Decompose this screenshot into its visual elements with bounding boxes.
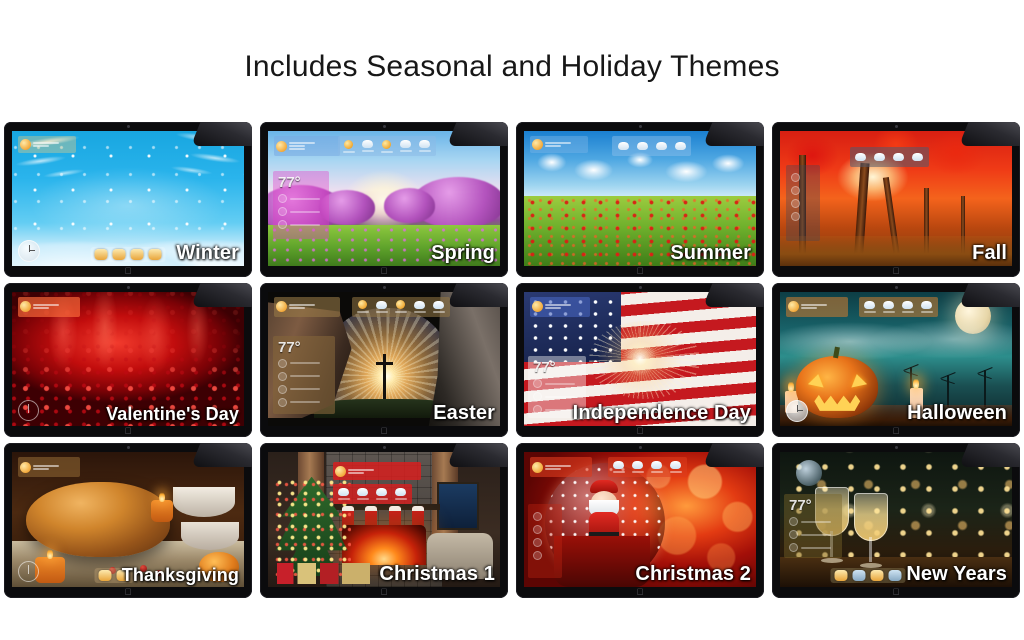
forecast-cell	[379, 138, 395, 154]
forecast-cell	[853, 149, 869, 165]
cloud-icon	[278, 359, 287, 368]
weather-badge[interactable]	[274, 297, 340, 317]
sun-icon	[20, 301, 31, 312]
cloud-icon	[278, 220, 287, 229]
device-logo-icon: 	[635, 587, 645, 597]
pumpkin-eye	[849, 372, 867, 387]
cloud-icon	[278, 385, 287, 394]
sun-icon	[344, 140, 353, 149]
theme-label: Christmas 2	[635, 563, 751, 586]
theme-label: Halloween	[907, 402, 1007, 425]
theme-tile-winter[interactable]: 	[0, 120, 256, 281]
forecast-row	[278, 398, 331, 407]
theme-tile-valentines-day[interactable]:  Valentine's Day	[0, 281, 256, 442]
monitor-frame: 	[4, 122, 252, 277]
dock-icon[interactable]	[835, 570, 848, 581]
camera-icon	[895, 286, 898, 289]
theme-grid: 	[0, 120, 1024, 602]
pumpkin-eye	[807, 372, 825, 387]
theme-tile-christmas-1[interactable]: 	[256, 441, 512, 602]
sun-icon	[20, 139, 31, 150]
forecast-cell	[919, 299, 935, 315]
cloud-icon	[376, 488, 387, 496]
monitor-frame: 	[772, 122, 1020, 277]
cloud-icon	[651, 461, 662, 469]
forecast-cell	[872, 149, 888, 165]
sun-icon	[396, 300, 405, 309]
forecast-cell	[862, 299, 878, 315]
camera-icon	[127, 446, 130, 449]
theme-label: Spring	[431, 242, 495, 265]
weather-badge[interactable]	[333, 462, 421, 480]
jack-o-lantern-icon	[796, 356, 878, 418]
sun-icon	[358, 300, 367, 309]
screen: Halloween	[780, 292, 1012, 427]
cloud-icon	[533, 379, 542, 388]
forecast-row	[791, 199, 816, 208]
cloud-icon	[921, 301, 932, 309]
sun-icon	[276, 301, 287, 312]
screen: Summer	[524, 131, 756, 266]
cloud-icon	[791, 173, 800, 182]
theme-tile-halloween[interactable]: 	[768, 281, 1024, 442]
cloud-icon	[278, 398, 287, 407]
screen: Fall	[780, 131, 1012, 266]
device-logo-icon: 	[379, 587, 389, 597]
forecast-cell	[891, 149, 907, 165]
device-logo-icon: 	[123, 587, 133, 597]
screen: 77° New Years	[780, 452, 1012, 587]
forecast-strip[interactable]	[859, 297, 938, 317]
blossom-tree-midright	[384, 188, 435, 223]
cloud-icon	[675, 142, 686, 150]
cloud-icon	[278, 207, 287, 216]
forecast-row	[533, 379, 582, 388]
theme-label: Easter	[433, 402, 495, 425]
monitor-frame:  77°	[772, 443, 1020, 598]
forecast-cell	[910, 149, 926, 165]
dock[interactable]	[91, 247, 166, 262]
cloud-icon	[864, 301, 875, 309]
forecast-cell	[615, 138, 631, 154]
sun-icon	[532, 139, 543, 150]
cloud-icon	[533, 512, 542, 521]
weather-badge-text	[801, 304, 827, 309]
power-icon[interactable]	[18, 561, 39, 582]
weather-badge[interactable]	[530, 136, 588, 153]
dock[interactable]	[831, 568, 906, 583]
forecast-row	[791, 173, 816, 182]
theme-label: Fall	[972, 242, 1007, 265]
sun-icon	[532, 462, 543, 473]
weather-badge-text	[545, 142, 571, 147]
cloud-icon	[893, 153, 904, 161]
cloud-icon	[278, 372, 287, 381]
screen: Valentine's Day	[12, 292, 244, 427]
screen: 77° Easter	[268, 292, 500, 427]
forecast-cell	[431, 299, 447, 315]
screen: 77° Spring	[268, 131, 500, 266]
monitor-frame:  Valentine's Day	[4, 283, 252, 438]
theme-tile-fall[interactable]: 	[768, 120, 1024, 281]
monitor-frame: 	[4, 443, 252, 598]
screen: Christmas 1	[268, 452, 500, 587]
camera-icon	[639, 286, 642, 289]
pumpkin-mouth	[814, 395, 860, 411]
cloud-icon	[656, 142, 667, 150]
forecast-cell	[649, 459, 665, 475]
cloud-icon	[637, 142, 648, 150]
fireplace-fire	[342, 525, 426, 565]
dock-icon[interactable]	[853, 570, 866, 581]
forecast-cell	[672, 138, 688, 154]
stuffing-bowl	[173, 487, 235, 517]
weather-badge-text	[348, 469, 374, 474]
forecast-row	[789, 543, 838, 552]
device-logo-icon: 	[635, 426, 645, 436]
cloud-icon	[278, 194, 287, 203]
cloud-icon	[789, 517, 798, 526]
weather-badge[interactable]	[786, 297, 848, 317]
theme-label: New Years	[906, 563, 1007, 586]
screen: Christmas 2	[524, 452, 756, 587]
device-logo-icon: 	[891, 266, 901, 276]
camera-icon	[127, 125, 130, 128]
cloud-icon	[618, 142, 629, 150]
sun-icon	[788, 301, 799, 312]
weather-temperature: 77°	[278, 175, 325, 190]
forecast-cell	[611, 459, 627, 475]
cloud-icon	[395, 488, 406, 496]
cloud-icon	[613, 461, 624, 469]
forecast-cell	[336, 486, 352, 502]
cloud-icon	[419, 140, 430, 148]
theme-tile-christmas-2[interactable]: 	[512, 441, 768, 602]
forecast-row	[533, 512, 558, 521]
forecast-strip[interactable]	[338, 136, 436, 156]
forecast-cell	[630, 459, 646, 475]
monitor-frame: 	[260, 283, 508, 438]
device-logo-icon: 	[891, 587, 901, 597]
theme-label: Winter	[176, 242, 239, 265]
weather-temperature: 77°	[278, 340, 331, 355]
forecast-row	[533, 538, 558, 547]
weather-badge-text	[33, 142, 59, 147]
device-logo-icon: 	[635, 266, 645, 276]
camera-icon	[127, 286, 130, 289]
sun-icon	[382, 140, 391, 149]
weather-badge-text	[33, 304, 59, 309]
weather-badge-text	[33, 465, 59, 470]
theme-tile-independence-day[interactable]:  77°	[512, 281, 768, 442]
fog	[780, 319, 1012, 365]
weather-panel[interactable]: 77°	[273, 336, 335, 414]
cloud-icon	[912, 153, 923, 161]
dock-icon[interactable]	[113, 249, 126, 260]
cloud-icon	[902, 301, 913, 309]
forecast-cell	[634, 138, 650, 154]
weather-temperature: 77°	[533, 360, 582, 375]
monitor-frame: 	[516, 122, 764, 277]
forecast-row	[278, 372, 331, 381]
cloud-icon	[400, 140, 411, 148]
firework-burst	[589, 321, 700, 399]
screen: 77° Independence Day	[524, 292, 756, 427]
sun-icon	[335, 466, 346, 477]
candle	[35, 557, 65, 583]
forecast-row	[789, 530, 838, 539]
sun-icon	[276, 141, 287, 152]
forecast-cell	[360, 138, 376, 154]
forecast-strip[interactable]	[850, 147, 929, 167]
forecast-row	[533, 525, 558, 534]
monitor-frame:  77°	[516, 283, 764, 438]
theme-tile-new-years[interactable]:  77°	[768, 441, 1024, 602]
screen: Winter	[12, 131, 244, 266]
forecast-cell	[668, 459, 684, 475]
cloud-icon	[533, 538, 542, 547]
cloud-icon	[791, 199, 800, 208]
sun-icon	[532, 301, 543, 312]
weather-temperature: 77°	[789, 498, 838, 513]
cloud-icon	[670, 461, 681, 469]
weather-panel[interactable]: 77°	[273, 171, 329, 239]
dock-icon[interactable]	[149, 249, 162, 260]
camera-icon	[383, 446, 386, 449]
champagne-flute	[854, 493, 888, 568]
cloud-icon	[791, 212, 800, 221]
theme-label: Christmas 1	[379, 563, 495, 586]
forecast-cell	[653, 138, 669, 154]
cloud-icon	[338, 488, 349, 496]
cloud-icon	[632, 461, 643, 469]
forecast-cell	[393, 299, 409, 315]
themes-showcase-page: Includes Seasonal and Holiday Themes 	[0, 0, 1024, 640]
theme-tile-summer[interactable]: 	[512, 120, 768, 281]
forecast-row	[533, 392, 582, 401]
forecast-row	[278, 359, 331, 368]
forecast-row	[278, 207, 325, 216]
forecast-cell	[900, 299, 916, 315]
pumpkin-stem	[833, 347, 840, 359]
cloud-icon	[533, 551, 542, 560]
device-logo-icon: 	[123, 266, 133, 276]
device-logo-icon: 	[123, 426, 133, 436]
cloud-icon	[433, 301, 444, 309]
cloud-icon	[362, 140, 373, 148]
weather-badge-text	[545, 304, 571, 309]
weather-badge[interactable]	[18, 297, 80, 317]
forecast-row	[791, 186, 816, 195]
monitor-frame: 	[516, 443, 764, 598]
cloud-icon	[883, 301, 894, 309]
weather-badge-text	[545, 465, 571, 470]
forecast-cell	[393, 486, 409, 502]
camera-icon	[895, 125, 898, 128]
dock-icon[interactable]	[99, 570, 112, 581]
theme-label: Summer	[670, 242, 751, 265]
cloud-icon	[414, 301, 425, 309]
cloud-icon	[789, 530, 798, 539]
camera-icon	[639, 125, 642, 128]
forecast-row	[789, 517, 838, 526]
dock-icon[interactable]	[889, 570, 902, 581]
theme-label: Valentine's Day	[106, 404, 239, 425]
weather-panel[interactable]: 77°	[784, 494, 842, 558]
window	[437, 482, 479, 530]
gift-boxes	[277, 563, 370, 585]
monitor-frame: 	[260, 122, 508, 277]
camera-icon	[895, 446, 898, 449]
theme-label: Independence Day	[573, 402, 751, 425]
forecast-cell	[398, 138, 414, 154]
forecast-row	[278, 194, 325, 203]
monitor-frame: 	[772, 283, 1020, 438]
forecast-cell	[417, 138, 433, 154]
cloud-icon	[789, 543, 798, 552]
forecast-cell	[374, 486, 390, 502]
cloud-icon	[357, 488, 368, 496]
cloud-icon	[533, 525, 542, 534]
device-logo-icon: 	[379, 426, 389, 436]
weather-badge[interactable]	[18, 457, 80, 477]
candle	[151, 500, 173, 522]
camera-icon	[639, 446, 642, 449]
forecast-cell	[355, 486, 371, 502]
weather-panel[interactable]	[786, 165, 820, 241]
weather-panel[interactable]	[528, 504, 562, 578]
cross-icon	[383, 354, 386, 400]
cloud-icon	[533, 405, 542, 414]
theme-tile-thanksgiving[interactable]: 	[0, 441, 256, 602]
camera-icon	[383, 125, 386, 128]
forecast-strip[interactable]	[612, 136, 691, 156]
forecast-cell	[412, 299, 428, 315]
forecast-row	[791, 212, 816, 221]
theme-label: Thanksgiving	[122, 565, 239, 586]
cloud-icon	[533, 392, 542, 401]
forecast-cell	[881, 299, 897, 315]
cloud-icon	[855, 153, 866, 161]
sun-icon	[20, 462, 31, 473]
cloud-icon	[376, 301, 387, 309]
cloud-icon	[791, 186, 800, 195]
monitor-frame: 	[260, 443, 508, 598]
forecast-strip[interactable]	[608, 457, 687, 477]
forecast-cell	[374, 299, 390, 315]
screen: Thanksgiving	[12, 452, 244, 587]
weather-badge-text	[289, 304, 315, 309]
dock-icon[interactable]	[871, 570, 884, 581]
weather-badge[interactable]	[18, 136, 76, 153]
weather-badge[interactable]	[274, 136, 340, 156]
theme-tile-spring[interactable]: 	[256, 120, 512, 281]
forecast-cell	[341, 138, 357, 154]
clock-icon[interactable]	[18, 240, 40, 262]
weather-badge-text	[289, 142, 315, 150]
cloud-icon	[874, 153, 885, 161]
weather-badge[interactable]	[530, 297, 590, 317]
forecast-row	[533, 551, 558, 560]
device-logo-icon: 	[891, 426, 901, 436]
forecast-strip[interactable]	[333, 484, 412, 504]
page-title: Includes Seasonal and Holiday Themes	[0, 50, 1024, 84]
roast-turkey	[26, 482, 170, 557]
dock-icon[interactable]	[131, 249, 144, 260]
forecast-row	[278, 385, 331, 394]
theme-tile-easter[interactable]: 	[256, 281, 512, 442]
device-logo-icon: 	[379, 266, 389, 276]
forecast-row	[278, 220, 325, 229]
forecast-cell	[355, 299, 371, 315]
weather-badge[interactable]	[530, 457, 592, 477]
dock-icon[interactable]	[95, 249, 108, 260]
forecast-strip[interactable]	[352, 297, 450, 317]
camera-icon	[383, 286, 386, 289]
